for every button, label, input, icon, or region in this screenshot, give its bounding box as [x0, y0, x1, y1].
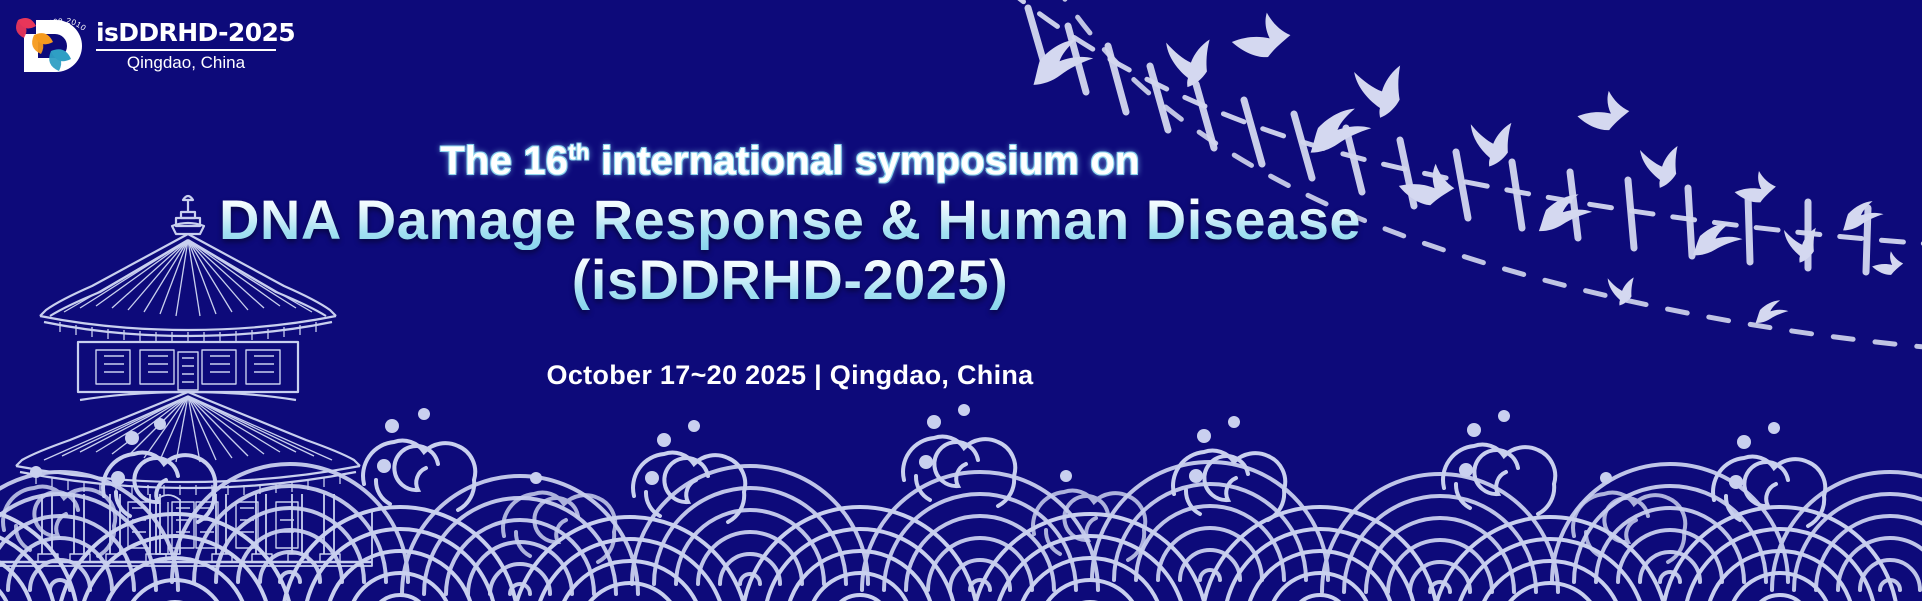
conference-title-acronym: (isDDRHD-2025) [0, 250, 1580, 310]
logo-acronym: isDDRHD-2025 [96, 20, 276, 45]
logo-mark-d-with-leaves: Since 2010 [10, 4, 94, 90]
conference-banner: Since 2010 isDDRHD-2025 Qingdao, China T… [0, 0, 1922, 601]
conference-title-main: DNA Damage Response & Human Disease [0, 190, 1580, 250]
date-and-location: October 17~20 2025 | Qingdao, China [0, 360, 1580, 391]
logo-divider [96, 49, 276, 51]
edition-ordinal: th [568, 140, 590, 165]
edition-suffix: international symposium on [590, 139, 1140, 183]
logo-location: Qingdao, China [96, 54, 276, 71]
symposium-edition-line: The 16th international symposium on [0, 140, 1580, 182]
conference-logo[interactable]: Since 2010 isDDRHD-2025 Qingdao, China [10, 4, 280, 90]
edition-prefix: The 16 [440, 139, 568, 183]
